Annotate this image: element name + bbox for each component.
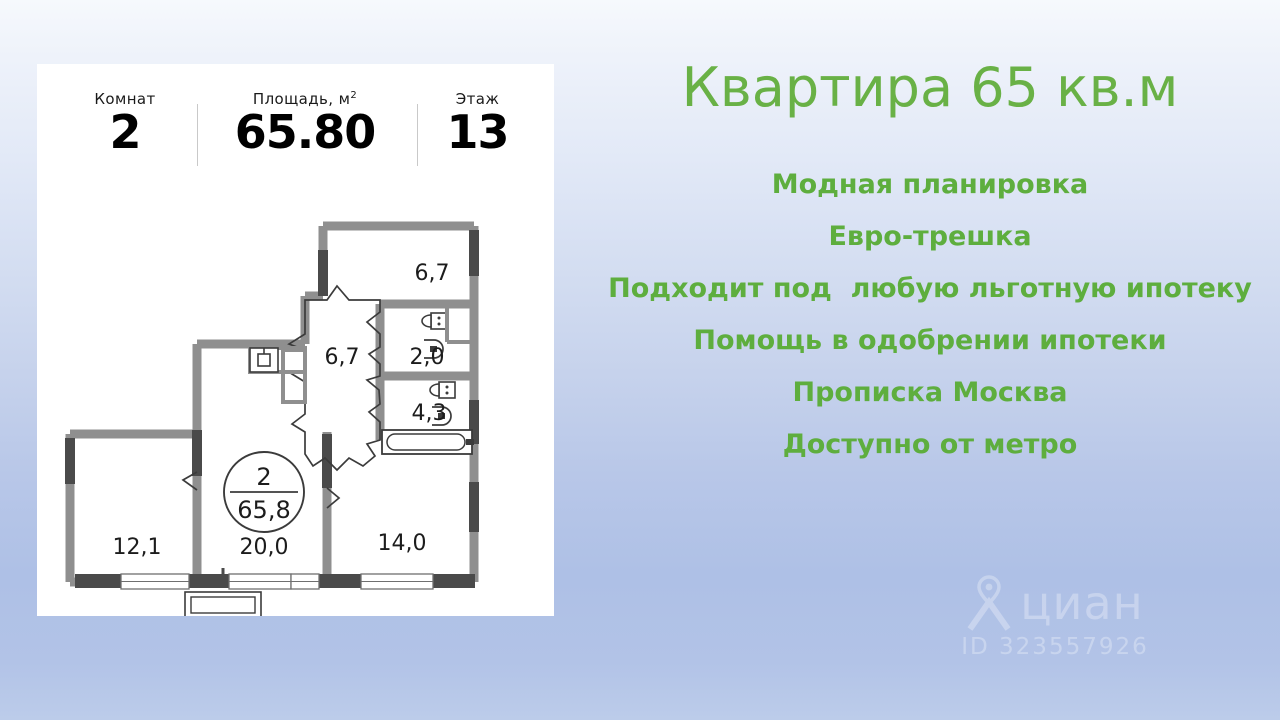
stat-floor-value: 13 — [415, 108, 540, 156]
promo-bullet-6: Доступно от метро — [600, 429, 1260, 462]
watermark-brand-text: циан — [1020, 580, 1143, 626]
kitchen-counter — [250, 348, 305, 402]
stat-area-value: 65.80 — [195, 108, 415, 156]
badge-rooms: 2 — [256, 463, 271, 491]
promo-bullet-3: Подходит под любую льготную ипотеку — [600, 273, 1260, 306]
promo-bullet-2: Евро-трешка — [600, 221, 1260, 254]
promo-panel: Квартира 65 кв.м Модная планировка Евро-… — [600, 58, 1260, 462]
plan-walls: 2 65,8 6,7 6,7 2,0 4,3 12,1 20,0 14,0 — [65, 226, 479, 616]
promo-bullet-1: Модная планировка — [600, 169, 1260, 202]
bathtub — [382, 430, 474, 454]
room-label-bathroom-small: 2,0 — [410, 345, 445, 370]
balcony-box — [185, 592, 261, 616]
windows — [121, 574, 433, 589]
floor-plan-drawing: 2 65,8 6,7 6,7 2,0 4,3 12,1 20,0 14,0 — [37, 182, 554, 616]
promo-bullet-list: Модная планировка Евро-трешка Подходит п… — [600, 169, 1260, 462]
page-title: Квартира 65 кв.м — [600, 58, 1260, 117]
stat-area-unit-sup: 2 — [350, 90, 357, 101]
room-label-bedroom-left: 12,1 — [113, 535, 162, 560]
cian-watermark: циан ID 323557926 — [905, 575, 1205, 670]
map-pin-icon — [966, 575, 1012, 631]
stat-floor: Этаж 13 — [415, 90, 540, 156]
promo-bullet-4: Помощь в одобрении ипотеки — [600, 325, 1260, 358]
stat-rooms-value: 2 — [55, 108, 195, 156]
plan-stats-bar: Комнат 2 Площадь, м2 65.80 Этаж 13 — [37, 82, 554, 192]
watermark-listing-id: ID 323557926 — [905, 634, 1205, 660]
room-label-balcony-loggia: 6,7 — [415, 261, 450, 286]
watermark-brand-row: циан — [905, 575, 1205, 631]
room-label-living-kitchen: 20,0 — [240, 535, 289, 560]
promo-bullet-5: Прописка Москва — [600, 377, 1260, 410]
stat-rooms: Комнат 2 — [55, 90, 195, 156]
room-label-bathroom-large: 4,3 — [412, 401, 447, 426]
room-label-hallway: 6,7 — [325, 345, 360, 370]
area-badge: 2 65,8 — [224, 452, 304, 532]
room-label-bedroom-right: 14,0 — [378, 531, 427, 556]
stat-area: Площадь, м2 65.80 — [195, 90, 415, 156]
badge-area: 65,8 — [237, 496, 290, 524]
floor-plan-card: Комнат 2 Площадь, м2 65.80 Этаж 13 — [37, 64, 554, 616]
